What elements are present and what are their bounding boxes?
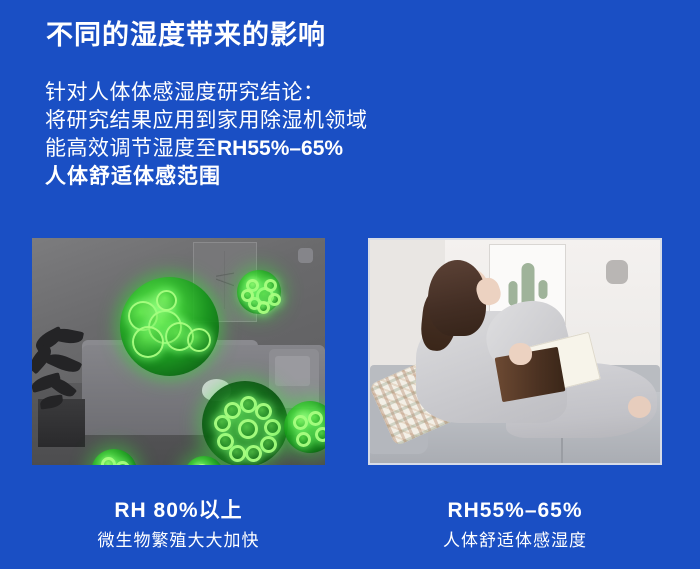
intro-line-1: 针对人体体感湿度研究结论： [45,79,368,107]
intro-line-4: 人体舒适体感范围 [45,163,368,191]
woman-hair [428,260,486,336]
woman-hand-holding-book [509,343,532,365]
caption-comfort: RH55%–65% 人体舒适体感湿度 [368,498,662,554]
sofa-pillow [275,356,310,386]
intro-line-3-prefix: 能高效调节湿度至 [45,137,217,160]
bright-living-room-scene [370,240,660,463]
photo-woman-reading [368,238,662,465]
microbe-sphere-bottom [202,381,288,465]
dim-living-room-scene [32,238,325,465]
intro-line-3: 能高效调节湿度至RH55%–65% [45,135,368,163]
caption-title: RH55%–65% [368,498,662,524]
promo-slide: 不同的湿度带来的影响 针对人体体感湿度研究结论： 将研究结果应用到家用除湿机领域… [0,0,700,569]
microbe-sphere-small-top [237,270,281,314]
wall-speaker-icon [298,248,313,263]
intro-paragraph: 针对人体体感湿度研究结论： 将研究结果应用到家用除湿机领域 能高效调节湿度至RH… [45,79,368,191]
photo-microbes [32,238,325,465]
microbe-sphere-large [120,277,219,376]
caption-microbes: RH 80%以上 微生物繁殖大大加快 [32,498,325,554]
wall-speaker-icon [606,260,628,284]
caption-subtitle: 人体舒适体感湿度 [368,528,662,554]
humidity-range-value: RH55%–65% [217,137,343,160]
page-title: 不同的湿度带来的影响 [46,18,326,53]
intro-line-2: 将研究结果应用到家用除湿机领域 [45,107,368,135]
plant-leaves [32,329,102,420]
caption-title: RH 80%以上 [32,498,325,524]
caption-subtitle: 微生物繁殖大大加快 [32,528,325,554]
